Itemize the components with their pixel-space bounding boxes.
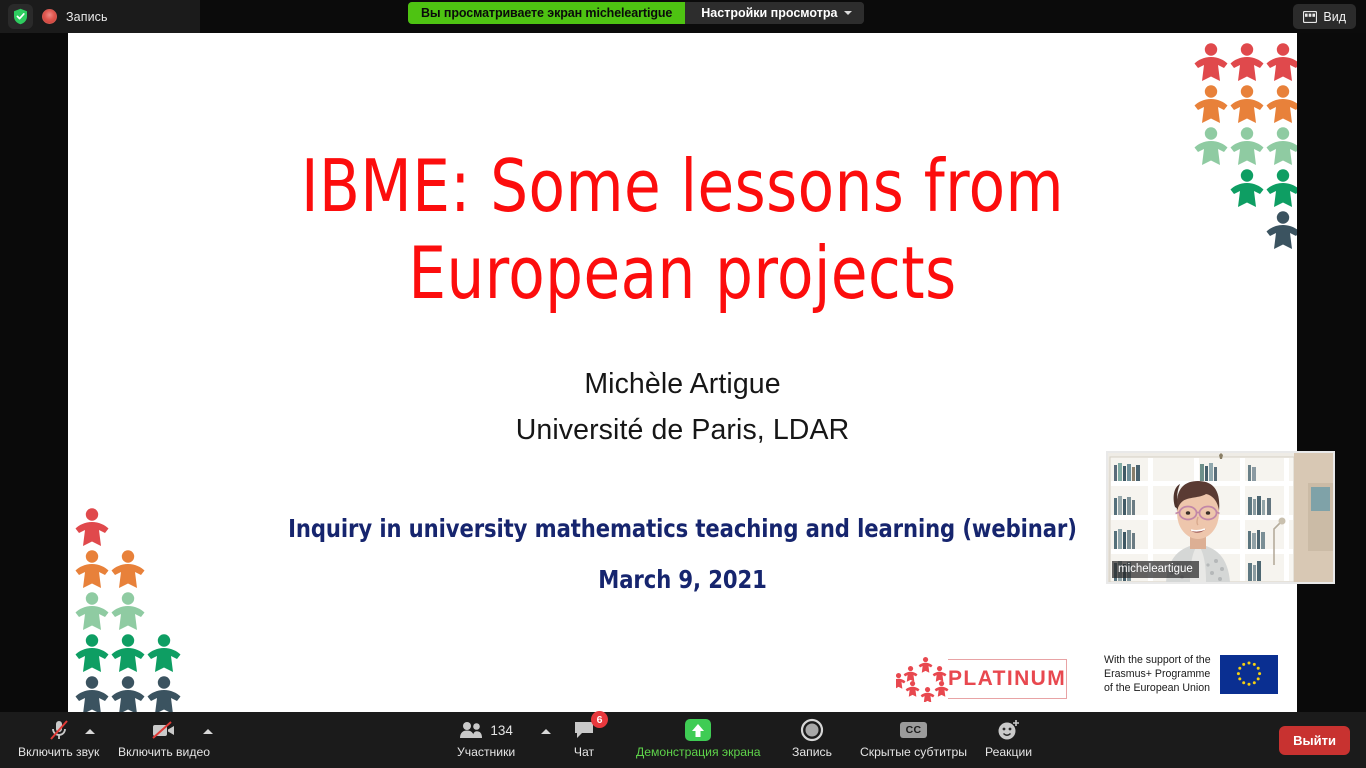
event-date: March 9, 2021 <box>105 554 1260 605</box>
eu-support-line-3: of the European Union <box>1104 682 1211 696</box>
person-figure-icon <box>74 674 110 712</box>
slide-title-line-2: European projects <box>117 230 1248 317</box>
reactions-button[interactable]: Реакции <box>985 717 1032 759</box>
participants-chevron-icon[interactable] <box>541 729 551 734</box>
share-screen-label: Демонстрация экрана <box>636 745 761 759</box>
person-figure-icon <box>1265 167 1297 211</box>
microphone-muted-icon <box>47 717 71 743</box>
screen-share-notice-text: Вы просматриваете экран micheleartigue <box>408 2 685 24</box>
person-figure-icon <box>1193 41 1229 85</box>
self-view-participant-name: micheleartigue <box>1112 561 1199 578</box>
author-affiliation: Université de Paris, LDAR <box>68 407 1297 453</box>
participants-label: Участники <box>457 745 515 759</box>
self-view-video-tile[interactable]: micheleartigue <box>1106 451 1335 584</box>
person-figure-icon <box>1265 83 1297 127</box>
reactions-label: Реакции <box>985 745 1032 759</box>
chat-label: Чат <box>574 745 594 759</box>
platinum-wordmark: PLATINUM <box>948 667 1066 691</box>
leave-meeting-label: Выйти <box>1293 733 1336 748</box>
people-icon: 134 <box>459 717 513 743</box>
security-shield-icon[interactable] <box>8 4 33 29</box>
share-screen-button[interactable]: Демонстрация экрана <box>636 717 761 759</box>
screen-share-notice-bar: Вы просматриваете экран micheleartigue Н… <box>408 2 864 24</box>
closed-captions-button[interactable]: CC Скрытые субтитры <box>860 717 967 759</box>
erasmus-eu-logo: With the support of the Erasmus+ Program… <box>1104 654 1278 696</box>
participants-button[interactable]: 134 Участники <box>457 717 515 759</box>
video-options-chevron-icon[interactable] <box>203 729 213 734</box>
share-screen-up-arrow-icon <box>681 717 715 743</box>
participants-count: 134 <box>490 723 513 738</box>
slide-title: IBME: Some lessons from European project… <box>117 143 1248 317</box>
zoom-top-bar: Запись Вы просматриваете экран michelear… <box>0 0 1366 33</box>
eu-flag-icon <box>1220 655 1278 694</box>
person-figure-icon <box>146 632 182 676</box>
person-figure-icon <box>74 632 110 676</box>
person-figure-icon <box>110 674 146 712</box>
shared-screen-slide: IBME: Some lessons from European project… <box>68 33 1297 712</box>
recording-label: Запись <box>66 10 108 24</box>
camera-muted-icon <box>151 717 177 743</box>
layout-grid-icon <box>1303 11 1317 23</box>
person-figure-icon <box>1229 41 1265 85</box>
event-title: Inquiry in university mathematics teachi… <box>105 503 1260 554</box>
slide-author-block: Michèle Artigue Université de Paris, LDA… <box>68 361 1297 453</box>
chat-unread-badge: 6 <box>591 711 608 728</box>
chat-bubble-icon: 6 <box>573 717 595 743</box>
people-row <box>74 674 182 712</box>
view-button[interactable]: Вид <box>1293 4 1356 29</box>
leave-meeting-button[interactable]: Выйти <box>1279 726 1350 755</box>
unmute-label: Включить звук <box>18 745 99 759</box>
zoom-bottom-toolbar: Включить звук Включить видео <box>0 712 1366 768</box>
person-figure-icon <box>1193 83 1229 127</box>
people-row <box>74 632 182 676</box>
audio-options-chevron-icon[interactable] <box>85 729 95 734</box>
platinum-wordmark-box: PLATINUM <box>948 659 1067 699</box>
eu-support-line-2: Erasmus+ Programme <box>1104 668 1211 682</box>
zoom-meeting-window: Запись Вы просматриваете экран michelear… <box>0 0 1366 768</box>
start-video-button[interactable]: Включить видео <box>118 717 210 759</box>
closed-captions-label: Скрытые субтитры <box>860 745 967 759</box>
people-row <box>1193 41 1297 85</box>
person-figure-icon <box>110 632 146 676</box>
cc-icon: CC <box>900 717 928 743</box>
unmute-button[interactable]: Включить звук <box>18 717 99 759</box>
person-figure-icon <box>146 674 182 712</box>
recording-indicator-icon[interactable] <box>42 9 57 24</box>
view-options-button[interactable]: Настройки просмотра <box>685 2 864 24</box>
record-button[interactable]: Запись <box>792 717 832 759</box>
person-figure-icon <box>1265 41 1297 85</box>
start-video-label: Включить видео <box>118 745 210 759</box>
record-label: Запись <box>792 745 832 759</box>
view-options-label: Настройки просмотра <box>701 6 837 20</box>
person-figure-icon <box>1229 83 1265 127</box>
platinum-stars-icon <box>896 656 954 702</box>
author-name: Michèle Artigue <box>68 361 1297 407</box>
chat-button[interactable]: 6 Чат <box>573 717 595 759</box>
smiley-plus-icon <box>996 717 1022 743</box>
eu-support-text: With the support of the Erasmus+ Program… <box>1104 654 1211 696</box>
platinum-logo: PLATINUM <box>896 655 1066 703</box>
eu-support-line-1: With the support of the <box>1104 654 1211 668</box>
record-circle-icon <box>800 717 824 743</box>
slide-title-line-1: IBME: Some lessons from <box>117 143 1248 230</box>
recording-status-group: Запись <box>0 0 200 33</box>
person-figure-icon <box>1265 209 1297 253</box>
person-figure-icon <box>1265 125 1297 169</box>
view-button-label: Вид <box>1323 10 1346 24</box>
people-row <box>1193 83 1297 127</box>
chevron-down-icon <box>844 11 852 15</box>
